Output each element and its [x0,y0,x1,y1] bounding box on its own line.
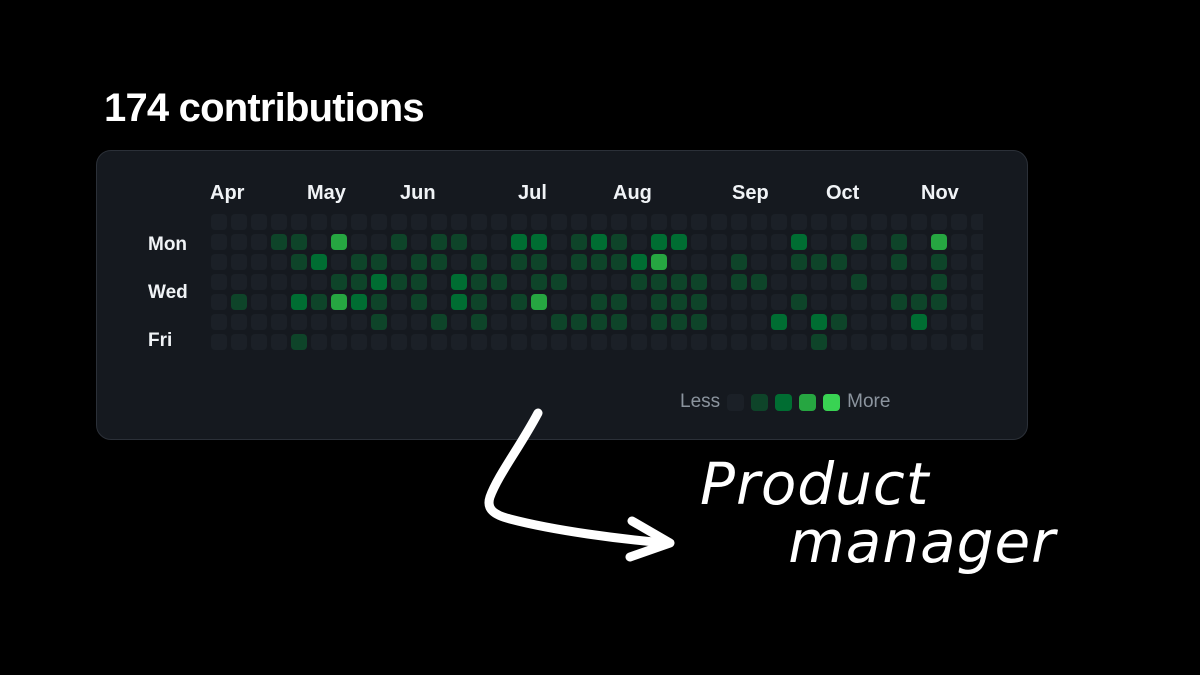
contribution-day-cell[interactable] [951,254,967,270]
contribution-day-cell[interactable] [451,294,467,310]
contribution-day-cell[interactable] [211,294,227,310]
contribution-day-cell[interactable] [631,254,647,270]
contribution-day-cell[interactable] [591,314,607,330]
contribution-day-cell[interactable] [371,214,387,230]
grid-week-column [611,214,627,366]
contribution-day-cell[interactable] [291,294,307,310]
contribution-day-cell[interactable] [311,334,327,350]
contribution-day-cell[interactable] [651,214,667,230]
contribution-day-cell[interactable] [911,274,927,290]
contribution-day-cell[interactable] [331,294,347,310]
contribution-day-cell[interactable] [851,214,867,230]
contribution-day-cell[interactable] [771,334,787,350]
contribution-day-cell[interactable] [691,234,707,250]
contribution-day-cell[interactable] [391,294,407,310]
contribution-day-cell[interactable] [771,314,787,330]
contribution-day-cell[interactable] [251,314,267,330]
contribution-day-cell[interactable] [891,314,907,330]
contribution-day-cell[interactable] [611,254,627,270]
contribution-day-cell[interactable] [851,234,867,250]
contribution-day-cell[interactable] [711,254,727,270]
contribution-day-cell[interactable] [771,254,787,270]
contribution-day-cell[interactable] [371,234,387,250]
contribution-day-cell[interactable] [691,214,707,230]
contribution-day-cell[interactable] [471,234,487,250]
contribution-day-cell[interactable] [871,294,887,310]
contribution-day-cell[interactable] [891,214,907,230]
contribution-day-cell[interactable] [531,334,547,350]
contribution-day-cell[interactable] [871,234,887,250]
contribution-day-cell[interactable] [531,234,547,250]
contribution-day-cell[interactable] [971,254,983,270]
contribution-day-cell[interactable] [491,254,507,270]
contribution-day-cell[interactable] [511,234,527,250]
contribution-day-cell[interactable] [731,294,747,310]
contribution-day-cell[interactable] [671,334,687,350]
contribution-day-cell[interactable] [491,274,507,290]
contribution-day-cell[interactable] [531,214,547,230]
month-label-may: May [307,182,346,205]
grid-week-column [851,214,867,366]
contribution-day-cell[interactable] [751,294,767,310]
contribution-day-cell[interactable] [931,254,947,270]
contribution-day-cell[interactable] [411,274,427,290]
contribution-day-cell[interactable] [711,294,727,310]
contribution-day-cell[interactable] [471,314,487,330]
contribution-day-cell[interactable] [411,214,427,230]
contribution-day-cell[interactable] [891,294,907,310]
contribution-day-cell[interactable] [511,294,527,310]
contribution-day-cell[interactable] [811,334,827,350]
contribution-day-cell[interactable] [851,254,867,270]
contribution-day-cell[interactable] [571,214,587,230]
contribution-day-cell[interactable] [631,314,647,330]
contribution-day-cell[interactable] [951,294,967,310]
contribution-day-cell[interactable] [711,234,727,250]
grid-week-column [551,214,567,366]
contribution-day-cell[interactable] [691,334,707,350]
contribution-day-cell[interactable] [271,314,287,330]
contribution-day-cell[interactable] [651,274,667,290]
contribution-day-cell[interactable] [731,314,747,330]
contribution-day-cell[interactable] [791,334,807,350]
grid-week-column [871,214,887,366]
contribution-day-cell[interactable] [891,274,907,290]
contribution-day-cell[interactable] [351,234,367,250]
contribution-day-cell[interactable] [571,234,587,250]
contribution-day-cell[interactable] [391,214,407,230]
contribution-day-cell[interactable] [971,214,983,230]
contribution-day-cell[interactable] [831,254,847,270]
contribution-day-cell[interactable] [771,294,787,310]
contribution-day-cell[interactable] [251,274,267,290]
contribution-day-cell[interactable] [791,254,807,270]
contribution-day-cell[interactable] [691,294,707,310]
contribution-day-cell[interactable] [611,314,627,330]
contribution-day-cell[interactable] [351,314,367,330]
contribution-day-cell[interactable] [451,214,467,230]
contribution-day-cell[interactable] [531,314,547,330]
contribution-day-cell[interactable] [571,274,587,290]
contribution-day-cell[interactable] [731,334,747,350]
contribution-day-cell[interactable] [451,314,467,330]
contribution-day-cell[interactable] [611,334,627,350]
contribution-day-cell[interactable] [491,214,507,230]
contribution-day-cell[interactable] [611,294,627,310]
contribution-day-cell[interactable] [591,294,607,310]
contribution-day-cell[interactable] [811,214,827,230]
grid-week-column [931,214,947,366]
contribution-day-cell[interactable] [831,214,847,230]
contribution-day-cell[interactable] [611,234,627,250]
contribution-day-cell[interactable] [291,314,307,330]
contribution-day-cell[interactable] [771,234,787,250]
contribution-day-cell[interactable] [971,294,983,310]
contribution-day-cell[interactable] [511,214,527,230]
contribution-day-cell[interactable] [631,274,647,290]
contribution-day-cell[interactable] [531,294,547,310]
contribution-day-cell[interactable] [751,274,767,290]
contribution-day-cell[interactable] [291,214,307,230]
contribution-day-cell[interactable] [831,274,847,290]
contribution-day-cell[interactable] [271,334,287,350]
contribution-day-cell[interactable] [411,314,427,330]
contribution-day-cell[interactable] [651,314,667,330]
contribution-day-cell[interactable] [751,214,767,230]
contribution-day-cell[interactable] [751,334,767,350]
contribution-day-cell[interactable] [951,334,967,350]
contribution-day-cell[interactable] [291,334,307,350]
contribution-day-cell[interactable] [491,294,507,310]
contribution-day-cell[interactable] [431,234,447,250]
contribution-day-cell[interactable] [311,234,327,250]
contribution-day-cell[interactable] [211,214,227,230]
contribution-day-cell[interactable] [451,234,467,250]
contribution-day-cell[interactable] [711,214,727,230]
contribution-day-cell[interactable] [591,214,607,230]
contribution-day-cell[interactable] [791,214,807,230]
contribution-day-cell[interactable] [411,234,427,250]
contribution-grid[interactable] [211,214,983,366]
contribution-day-cell[interactable] [851,274,867,290]
contribution-day-cell[interactable] [671,314,687,330]
contribution-day-cell[interactable] [231,254,247,270]
contribution-day-cell[interactable] [971,334,983,350]
contribution-day-cell[interactable] [211,274,227,290]
contribution-day-cell[interactable] [571,294,587,310]
contribution-day-cell[interactable] [331,314,347,330]
contribution-day-cell[interactable] [411,294,427,310]
contribution-day-cell[interactable] [331,274,347,290]
contribution-day-cell[interactable] [351,274,367,290]
contribution-day-cell[interactable] [371,254,387,270]
contribution-day-cell[interactable] [431,314,447,330]
contribution-day-cell[interactable] [871,254,887,270]
grid-week-column [811,214,827,366]
contribution-day-cell[interactable] [491,234,507,250]
contribution-day-cell[interactable] [551,294,567,310]
contribution-day-cell[interactable] [891,234,907,250]
contribution-day-cell[interactable] [551,234,567,250]
contribution-day-cell[interactable] [711,314,727,330]
contribution-day-cell[interactable] [351,214,367,230]
contribution-day-cell[interactable] [891,254,907,270]
contribution-day-cell[interactable] [691,254,707,270]
contribution-day-cell[interactable] [391,254,407,270]
contribution-day-cell[interactable] [951,314,967,330]
contribution-day-cell[interactable] [931,294,947,310]
contribution-day-cell[interactable] [911,214,927,230]
contribution-day-cell[interactable] [431,334,447,350]
contribution-day-cell[interactable] [831,294,847,310]
contribution-day-cell[interactable] [551,274,567,290]
grid-week-column [351,214,367,366]
grid-week-column [751,214,767,366]
grid-week-column [311,214,327,366]
contribution-day-cell[interactable] [531,254,547,270]
grid-week-column [891,214,907,366]
contribution-day-cell[interactable] [591,274,607,290]
contribution-day-cell[interactable] [651,234,667,250]
contribution-day-cell[interactable] [251,234,267,250]
contribution-day-cell[interactable] [271,214,287,230]
grid-week-column [531,214,547,366]
contribution-day-cell[interactable] [371,294,387,310]
contribution-day-cell[interactable] [211,234,227,250]
contribution-day-cell[interactable] [471,334,487,350]
contribution-day-cell[interactable] [811,234,827,250]
contribution-day-cell[interactable] [911,234,927,250]
contribution-day-cell[interactable] [791,314,807,330]
contribution-day-cell[interactable] [571,254,587,270]
contribution-day-cell[interactable] [311,254,327,270]
contribution-day-cell[interactable] [711,334,727,350]
contribution-day-cell[interactable] [471,214,487,230]
contribution-day-cell[interactable] [691,314,707,330]
contribution-day-cell[interactable] [531,274,547,290]
grid-week-column [591,214,607,366]
contribution-day-cell[interactable] [251,294,267,310]
contribution-day-cell[interactable] [471,294,487,310]
contribution-day-cell[interactable] [751,254,767,270]
contribution-day-cell[interactable] [951,214,967,230]
contribution-day-cell[interactable] [311,274,327,290]
contribution-day-cell[interactable] [811,254,827,270]
contribution-day-cell[interactable] [351,294,367,310]
contribution-day-cell[interactable] [911,294,927,310]
contribution-day-cell[interactable] [811,274,827,290]
contribution-day-cell[interactable] [931,274,947,290]
contribution-day-cell[interactable] [611,274,627,290]
contribution-day-cell[interactable] [631,294,647,310]
grid-week-column [251,214,267,366]
contribution-day-cell[interactable] [451,274,467,290]
contribution-day-cell[interactable] [311,214,327,230]
contribution-day-cell[interactable] [571,314,587,330]
contribution-day-cell[interactable] [371,314,387,330]
contribution-day-cell[interactable] [731,254,747,270]
contribution-day-cell[interactable] [351,254,367,270]
contribution-day-cell[interactable] [551,314,567,330]
contribution-day-cell[interactable] [631,234,647,250]
contribution-day-cell[interactable] [511,254,527,270]
annotation-line-2: manager [700,513,1060,571]
contribution-day-cell[interactable] [671,294,687,310]
contribution-day-cell[interactable] [511,334,527,350]
contribution-day-cell[interactable] [231,274,247,290]
contribution-day-cell[interactable] [231,214,247,230]
grid-week-column [651,214,667,366]
contribution-day-cell[interactable] [451,254,467,270]
contribution-day-cell[interactable] [691,274,707,290]
contribution-day-cell[interactable] [291,254,307,270]
contribution-day-cell[interactable] [651,334,667,350]
contribution-day-cell[interactable] [211,334,227,350]
contribution-day-cell[interactable] [371,334,387,350]
contribution-day-cell[interactable] [631,214,647,230]
contribution-day-cell[interactable] [831,234,847,250]
contribution-day-cell[interactable] [271,294,287,310]
contribution-day-cell[interactable] [491,334,507,350]
contribution-day-cell[interactable] [291,234,307,250]
contribution-day-cell[interactable] [771,274,787,290]
contribution-day-cell[interactable] [491,314,507,330]
contribution-day-cell[interactable] [851,334,867,350]
contribution-day-cell[interactable] [971,314,983,330]
contribution-day-cell[interactable] [791,294,807,310]
contribution-day-cell[interactable] [951,234,967,250]
contribution-day-cell[interactable] [911,254,927,270]
contribution-day-cell[interactable] [871,334,887,350]
contribution-day-cell[interactable] [211,314,227,330]
contribution-day-cell[interactable] [231,234,247,250]
contribution-day-cell[interactable] [851,294,867,310]
contribution-day-cell[interactable] [591,234,607,250]
contribution-day-cell[interactable] [551,254,567,270]
contribution-day-cell[interactable] [711,274,727,290]
contribution-day-cell[interactable] [431,254,447,270]
contribution-day-cell[interactable] [831,334,847,350]
contribution-day-cell[interactable] [311,314,327,330]
contribution-day-cell[interactable] [451,334,467,350]
contribution-day-cell[interactable] [331,334,347,350]
contribution-day-cell[interactable] [231,294,247,310]
contribution-day-cell[interactable] [271,274,287,290]
contribution-day-cell[interactable] [391,334,407,350]
contribution-day-cell[interactable] [331,214,347,230]
contribution-day-cell[interactable] [811,294,827,310]
contribution-day-cell[interactable] [331,254,347,270]
contribution-day-cell[interactable] [911,334,927,350]
contribution-day-cell[interactable] [231,334,247,350]
contribution-day-cell[interactable] [271,234,287,250]
contribution-day-cell[interactable] [891,334,907,350]
contribution-day-cell[interactable] [631,334,647,350]
legend-swatch-level-2 [775,394,792,411]
grid-week-column [451,214,467,366]
contribution-day-cell[interactable] [391,234,407,250]
legend-swatch-level-4 [823,394,840,411]
grid-week-column [791,214,807,366]
contribution-day-cell[interactable] [871,274,887,290]
contribution-day-cell[interactable] [211,254,227,270]
contribution-day-cell[interactable] [671,254,687,270]
weekday-label-fri: Fri [148,330,172,352]
contribution-day-cell[interactable] [391,274,407,290]
contribution-day-cell[interactable] [871,214,887,230]
contribution-day-cell[interactable] [431,274,447,290]
contribution-day-cell[interactable] [931,234,947,250]
contribution-day-cell[interactable] [391,314,407,330]
contribution-day-cell[interactable] [251,254,267,270]
contribution-day-cell[interactable] [831,314,847,330]
contribution-day-cell[interactable] [511,314,527,330]
contribution-day-cell[interactable] [731,214,747,230]
contribution-day-cell[interactable] [851,314,867,330]
contribution-day-cell[interactable] [611,214,627,230]
contribution-day-cell[interactable] [251,214,267,230]
contribution-day-cell[interactable] [471,274,487,290]
contribution-day-cell[interactable] [251,334,267,350]
contribution-day-cell[interactable] [651,294,667,310]
grid-week-column [911,214,927,366]
contribution-day-cell[interactable] [751,314,767,330]
contribution-day-cell[interactable] [311,294,327,310]
contribution-day-cell[interactable] [671,234,687,250]
contribution-day-cell[interactable] [671,214,687,230]
contribution-day-cell[interactable] [331,234,347,250]
contribution-day-cell[interactable] [871,314,887,330]
contribution-day-cell[interactable] [951,274,967,290]
contribution-day-cell[interactable] [411,334,427,350]
contribution-day-cell[interactable] [811,314,827,330]
grid-week-column [951,214,967,366]
contribution-day-cell[interactable] [791,274,807,290]
contribution-day-cell[interactable] [911,314,927,330]
contribution-day-cell[interactable] [551,334,567,350]
contribution-day-cell[interactable] [931,214,947,230]
contribution-day-cell[interactable] [791,234,807,250]
grid-week-column [671,214,687,366]
page-title: 174 contributions [104,86,424,131]
contribution-day-cell[interactable] [471,254,487,270]
contribution-day-cell[interactable] [231,314,247,330]
month-label-oct: Oct [826,182,859,205]
contribution-day-cell[interactable] [591,254,607,270]
contribution-day-cell[interactable] [591,334,607,350]
contribution-day-cell[interactable] [971,234,983,250]
contribution-day-cell[interactable] [571,334,587,350]
contribution-day-cell[interactable] [551,214,567,230]
contribution-day-cell[interactable] [771,214,787,230]
contribution-day-cell[interactable] [731,274,747,290]
contribution-day-cell[interactable] [351,334,367,350]
contribution-day-cell[interactable] [431,214,447,230]
contribution-day-cell[interactable] [671,274,687,290]
contribution-day-cell[interactable] [931,334,947,350]
contribution-day-cell[interactable] [751,234,767,250]
contribution-day-cell[interactable] [511,274,527,290]
contribution-day-cell[interactable] [651,254,667,270]
contribution-day-cell[interactable] [971,274,983,290]
contribution-day-cell[interactable] [931,314,947,330]
contribution-day-cell[interactable] [431,294,447,310]
contribution-day-cell[interactable] [411,254,427,270]
contribution-day-cell[interactable] [291,274,307,290]
contribution-day-cell[interactable] [731,234,747,250]
contribution-day-cell[interactable] [371,274,387,290]
contribution-day-cell[interactable] [271,254,287,270]
